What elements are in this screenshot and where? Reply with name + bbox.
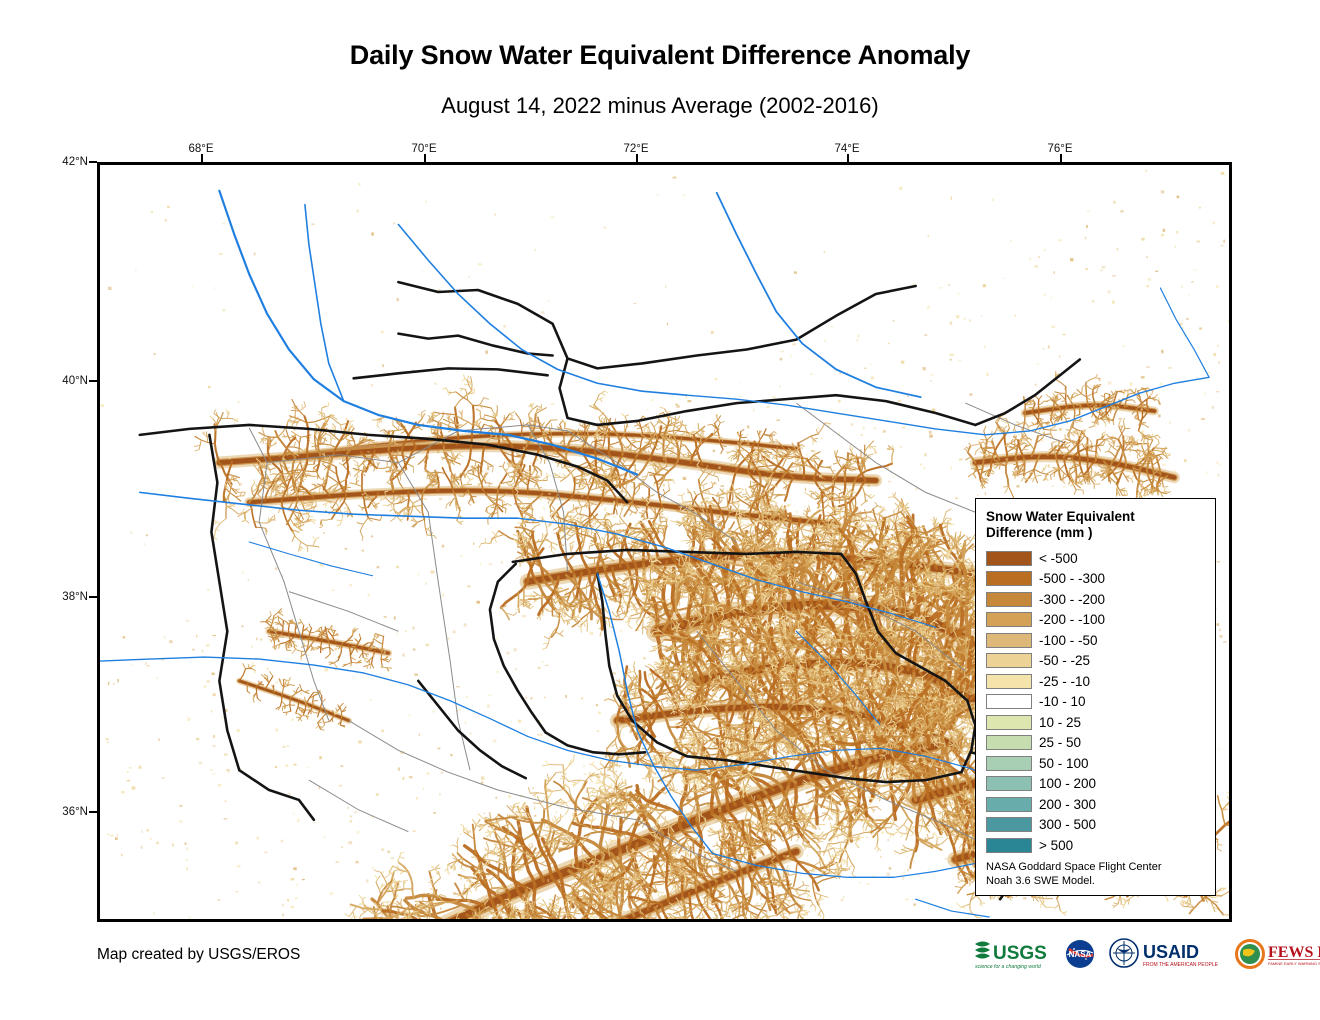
legend-row: -25 - -10 bbox=[986, 671, 1207, 692]
admin-boundary-line bbox=[289, 592, 398, 632]
legend-row: -300 - -200 bbox=[986, 589, 1207, 610]
svg-text:USAID: USAID bbox=[1143, 942, 1199, 962]
lat-tick-label: 42°N bbox=[40, 156, 88, 168]
legend-label: -10 - 10 bbox=[1039, 694, 1086, 709]
legend-label: -50 - -25 bbox=[1039, 653, 1090, 668]
river-line bbox=[249, 542, 372, 576]
legend-row: 100 - 200 bbox=[986, 773, 1207, 794]
svg-text:FROM THE AMERICAN PEOPLE: FROM THE AMERICAN PEOPLE bbox=[1143, 962, 1219, 968]
legend-items: < -500-500 - -300-300 - -200-200 - -100-… bbox=[986, 548, 1207, 856]
svg-text:USGS: USGS bbox=[993, 943, 1047, 964]
nasa-logo: NASA bbox=[1062, 936, 1098, 972]
legend-swatch bbox=[986, 735, 1032, 750]
lat-tick-label: 36°N bbox=[40, 806, 88, 818]
country-border-line bbox=[354, 368, 548, 378]
legend-title-line1: Snow Water Equivalent bbox=[986, 509, 1135, 524]
legend-row: 10 - 25 bbox=[986, 712, 1207, 733]
svg-text:FEWS NET: FEWS NET bbox=[1268, 944, 1320, 961]
legend-label: -200 - -100 bbox=[1039, 612, 1105, 627]
legend-swatch bbox=[986, 612, 1032, 627]
legend-row: -200 - -100 bbox=[986, 609, 1207, 630]
legend-swatch bbox=[986, 715, 1032, 730]
lat-tick-mark bbox=[89, 596, 97, 598]
legend-label: -25 - -10 bbox=[1039, 674, 1090, 689]
legend-swatch bbox=[986, 838, 1032, 853]
river-line bbox=[305, 205, 344, 401]
page-title: Daily Snow Water Equivalent Difference A… bbox=[0, 40, 1320, 71]
country-border-line bbox=[490, 564, 546, 733]
legend-swatch bbox=[986, 776, 1032, 791]
mountain-range bbox=[966, 414, 1175, 511]
legend-row: 200 - 300 bbox=[986, 794, 1207, 815]
legend-label: 50 - 100 bbox=[1039, 756, 1089, 771]
country-border-line bbox=[209, 435, 239, 770]
river-line bbox=[717, 193, 921, 397]
lat-tick-mark bbox=[89, 161, 97, 163]
legend-row: 50 - 100 bbox=[986, 753, 1207, 774]
legend-row: 25 - 50 bbox=[986, 732, 1207, 753]
lon-tick-mark bbox=[424, 154, 426, 162]
lon-tick-mark bbox=[1060, 154, 1062, 162]
legend-label: 300 - 500 bbox=[1039, 817, 1096, 832]
legend-label: -500 - -300 bbox=[1039, 571, 1105, 586]
country-border-line bbox=[398, 334, 552, 356]
legend-label: 100 - 200 bbox=[1039, 776, 1096, 791]
country-border-line bbox=[239, 770, 314, 820]
legend-label: 10 - 25 bbox=[1039, 715, 1081, 730]
legend-swatch bbox=[986, 592, 1032, 607]
lat-tick-label: 38°N bbox=[40, 591, 88, 603]
lon-tick-mark bbox=[636, 154, 638, 162]
legend-row: > 500 bbox=[986, 835, 1207, 856]
river-line bbox=[100, 657, 364, 673]
fewsnet-logo: FEWS NET FAMINE EARLY WARNING SYSTEMS NE… bbox=[1234, 936, 1320, 972]
country-border-line bbox=[546, 732, 645, 754]
lat-tick-mark bbox=[89, 811, 97, 813]
legend-source-line1: NASA Goddard Space Flight Center bbox=[986, 861, 1207, 875]
country-border-line bbox=[560, 358, 976, 424]
legend-row: -10 - 10 bbox=[986, 691, 1207, 712]
legend-row: < -500 bbox=[986, 548, 1207, 569]
legend-source: NASA Goddard Space Flight Center Noah 3.… bbox=[986, 861, 1207, 889]
legend-row: 300 - 500 bbox=[986, 814, 1207, 835]
legend-swatch bbox=[986, 797, 1032, 812]
legend-swatch bbox=[986, 653, 1032, 668]
lat-tick-label: 40°N bbox=[40, 375, 88, 387]
usgs-logo: USGS science for a changing world bbox=[973, 936, 1053, 972]
lat-tick-mark bbox=[89, 380, 97, 382]
mountain-range bbox=[239, 664, 348, 731]
lon-tick-mark bbox=[201, 154, 203, 162]
legend-row: -100 - -50 bbox=[986, 630, 1207, 651]
river-line bbox=[916, 899, 990, 917]
legend-label: -300 - -200 bbox=[1039, 592, 1105, 607]
legend-swatch bbox=[986, 551, 1032, 566]
page-subtitle: August 14, 2022 minus Average (2002-2016… bbox=[0, 93, 1320, 119]
legend-swatch bbox=[986, 756, 1032, 771]
country-border-line bbox=[418, 681, 525, 778]
admin-boundary-line bbox=[349, 721, 498, 790]
legend-swatch bbox=[986, 571, 1032, 586]
legend-label: < -500 bbox=[1039, 551, 1078, 566]
svg-text:FAMINE EARLY WARNING SYSTEMS N: FAMINE EARLY WARNING SYSTEMS NETWORK bbox=[1268, 961, 1320, 966]
map-credit: Map created by USGS/EROS bbox=[97, 946, 300, 964]
svg-text:NASA: NASA bbox=[1069, 950, 1092, 959]
legend-title: Snow Water Equivalent Difference (mm ) bbox=[986, 509, 1207, 541]
river-line bbox=[1160, 288, 1209, 377]
svg-text:science for a changing world: science for a changing world bbox=[975, 964, 1042, 970]
legend-swatch bbox=[986, 633, 1032, 648]
legend-swatch bbox=[986, 817, 1032, 832]
legend-swatch bbox=[986, 694, 1032, 709]
legend-row: -500 - -300 bbox=[986, 568, 1207, 589]
legend-label: 200 - 300 bbox=[1039, 797, 1096, 812]
legend-title-line2: Difference (mm ) bbox=[986, 525, 1093, 540]
legend-label: 25 - 50 bbox=[1039, 735, 1081, 750]
lon-tick-mark bbox=[847, 154, 849, 162]
legend-row: -50 - -25 bbox=[986, 650, 1207, 671]
country-border-line bbox=[398, 282, 915, 368]
legend-label: -100 - -50 bbox=[1039, 633, 1098, 648]
legend-source-line2: Noah 3.6 SWE Model. bbox=[986, 875, 1207, 889]
river-line bbox=[364, 673, 528, 736]
usaid-logo: USAID FROM THE AMERICAN PEOPLE bbox=[1107, 936, 1225, 972]
logo-bar: USGS science for a changing world NASA U… bbox=[973, 934, 1320, 974]
admin-boundary-line bbox=[309, 780, 408, 832]
legend-swatch bbox=[986, 674, 1032, 689]
legend-label: > 500 bbox=[1039, 838, 1073, 853]
map-legend: Snow Water Equivalent Difference (mm ) <… bbox=[975, 498, 1216, 896]
